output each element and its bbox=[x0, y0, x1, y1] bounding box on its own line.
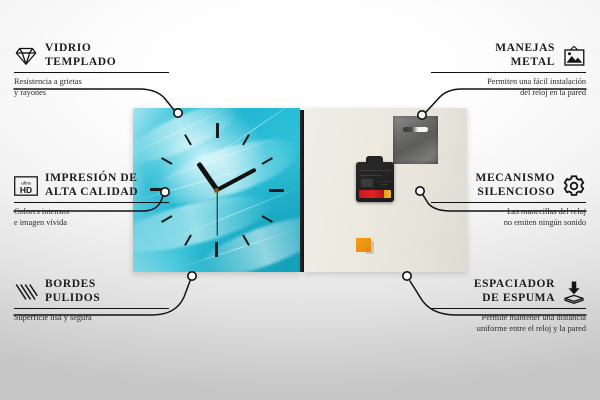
clock-second-hand bbox=[216, 190, 217, 236]
wire-dot-bordes-pulidos bbox=[188, 272, 196, 280]
callout-rule bbox=[431, 202, 586, 203]
diamond-icon bbox=[14, 44, 38, 68]
clock-center-cap bbox=[214, 188, 219, 193]
aa-battery bbox=[359, 190, 391, 198]
callout-mecanismo-silencioso[interactable]: MECANISMO SILENCIOSO Las manecillas del … bbox=[431, 172, 586, 228]
callout-espaciador-espuma[interactable]: ESPACIADOR DE ESPUMA Permite mantener un… bbox=[431, 278, 586, 334]
foam-spacer bbox=[356, 238, 371, 252]
callout-title: ESPACIADOR DE ESPUMA bbox=[474, 278, 555, 305]
gear-icon bbox=[562, 174, 586, 198]
ultra-hd-icon: ultra HD bbox=[14, 174, 38, 198]
hanger-slot bbox=[403, 127, 428, 132]
clock-movement bbox=[356, 162, 394, 202]
callout-subtitle: Permiten una fácil instalación del reloj… bbox=[431, 76, 586, 98]
infographic-canvas: VIDRIO TEMPLADO Resistencia a grietas y … bbox=[0, 0, 600, 400]
polished-edges-icon bbox=[14, 280, 38, 304]
callout-subtitle: Permite mantener una distancia uniforme … bbox=[431, 312, 586, 334]
svg-text:HD: HD bbox=[20, 185, 32, 195]
callout-rule bbox=[14, 308, 169, 309]
callout-subtitle: Las manecillas del reloj no emiten ningú… bbox=[431, 206, 586, 228]
callout-rule bbox=[431, 308, 586, 309]
callout-rule bbox=[14, 72, 169, 73]
movement-hook bbox=[366, 156, 383, 164]
callout-subtitle: Colores intensos e imagen vívida bbox=[14, 206, 169, 228]
callout-impresion-alta-calidad[interactable]: ultra HD IMPRESIÓN DE ALTA CALIDAD Color… bbox=[14, 172, 169, 228]
product-image bbox=[133, 108, 467, 272]
callout-manejas-metal[interactable]: MANEJAS METAL Permiten una fácil instala… bbox=[431, 42, 586, 98]
callout-subtitle: Superficie lisa y segura bbox=[14, 312, 169, 323]
arrow-down-pad-icon bbox=[562, 280, 586, 304]
callout-title: BORDES PULIDOS bbox=[45, 278, 100, 305]
wire-dot-espaciador bbox=[403, 272, 411, 280]
callout-rule bbox=[14, 202, 169, 203]
callout-title: MANEJAS METAL bbox=[495, 42, 555, 69]
callout-subtitle: Resistencia a grietas y rayones bbox=[14, 76, 169, 98]
callout-vidrio-templado[interactable]: VIDRIO TEMPLADO Resistencia a grietas y … bbox=[14, 42, 169, 98]
metal-hanger-plate bbox=[393, 116, 438, 164]
callout-title: MECANISMO SILENCIOSO bbox=[475, 172, 555, 199]
callout-rule bbox=[431, 72, 586, 73]
callout-title: IMPRESIÓN DE ALTA CALIDAD bbox=[45, 172, 138, 199]
callout-bordes-pulidos[interactable]: BORDES PULIDOS Superficie lisa y segura bbox=[14, 278, 169, 323]
picture-frame-icon bbox=[562, 44, 586, 68]
callout-title: VIDRIO TEMPLADO bbox=[45, 42, 116, 69]
